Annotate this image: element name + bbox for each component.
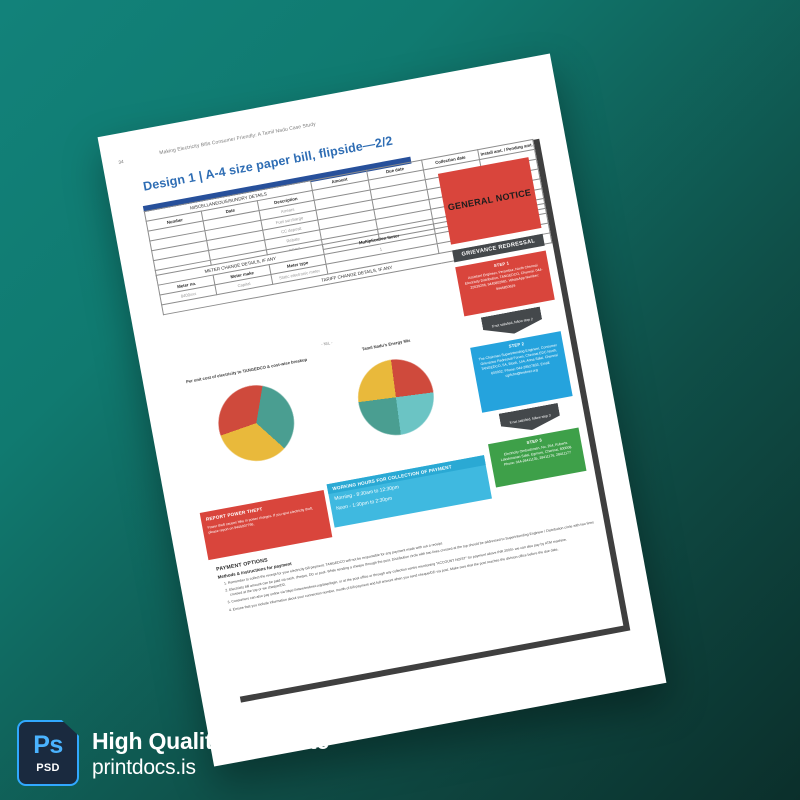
grievance-step-2: STEP 2 The Chairman Superintending Engin…	[470, 331, 572, 413]
photoshop-mark: Ps	[33, 733, 63, 758]
psd-label: PSD	[36, 762, 60, 774]
pie-chart-2	[352, 353, 441, 442]
footer-headline: High Quality Template	[92, 728, 329, 755]
psd-file-icon: Ps PSD	[17, 720, 79, 786]
document-page: 34 Making Electricity Bills Consumer Fri…	[98, 53, 667, 766]
mockup-canvas: 34 Making Electricity Bills Consumer Fri…	[0, 0, 800, 800]
footer-site: printdocs.is	[92, 756, 196, 780]
nil-text: - NIL -	[321, 340, 333, 347]
pie-chart-1	[212, 379, 301, 468]
chart-energy-mix: Tamil Nadu's Energy Mix	[323, 331, 466, 447]
grievance-step-1: STEP 1 Assistant Engineer, Perambur, Nor…	[455, 251, 555, 317]
page-number: 34	[118, 159, 124, 165]
page-sheet: 34 Making Electricity Bills Consumer Fri…	[98, 53, 667, 766]
grievance-step-3: STEP 3 Electricity Ombudsman, No. 254, R…	[488, 427, 586, 487]
chart-cost-breakup: Per unit cost of electricity to TANGEDCO…	[183, 356, 326, 472]
